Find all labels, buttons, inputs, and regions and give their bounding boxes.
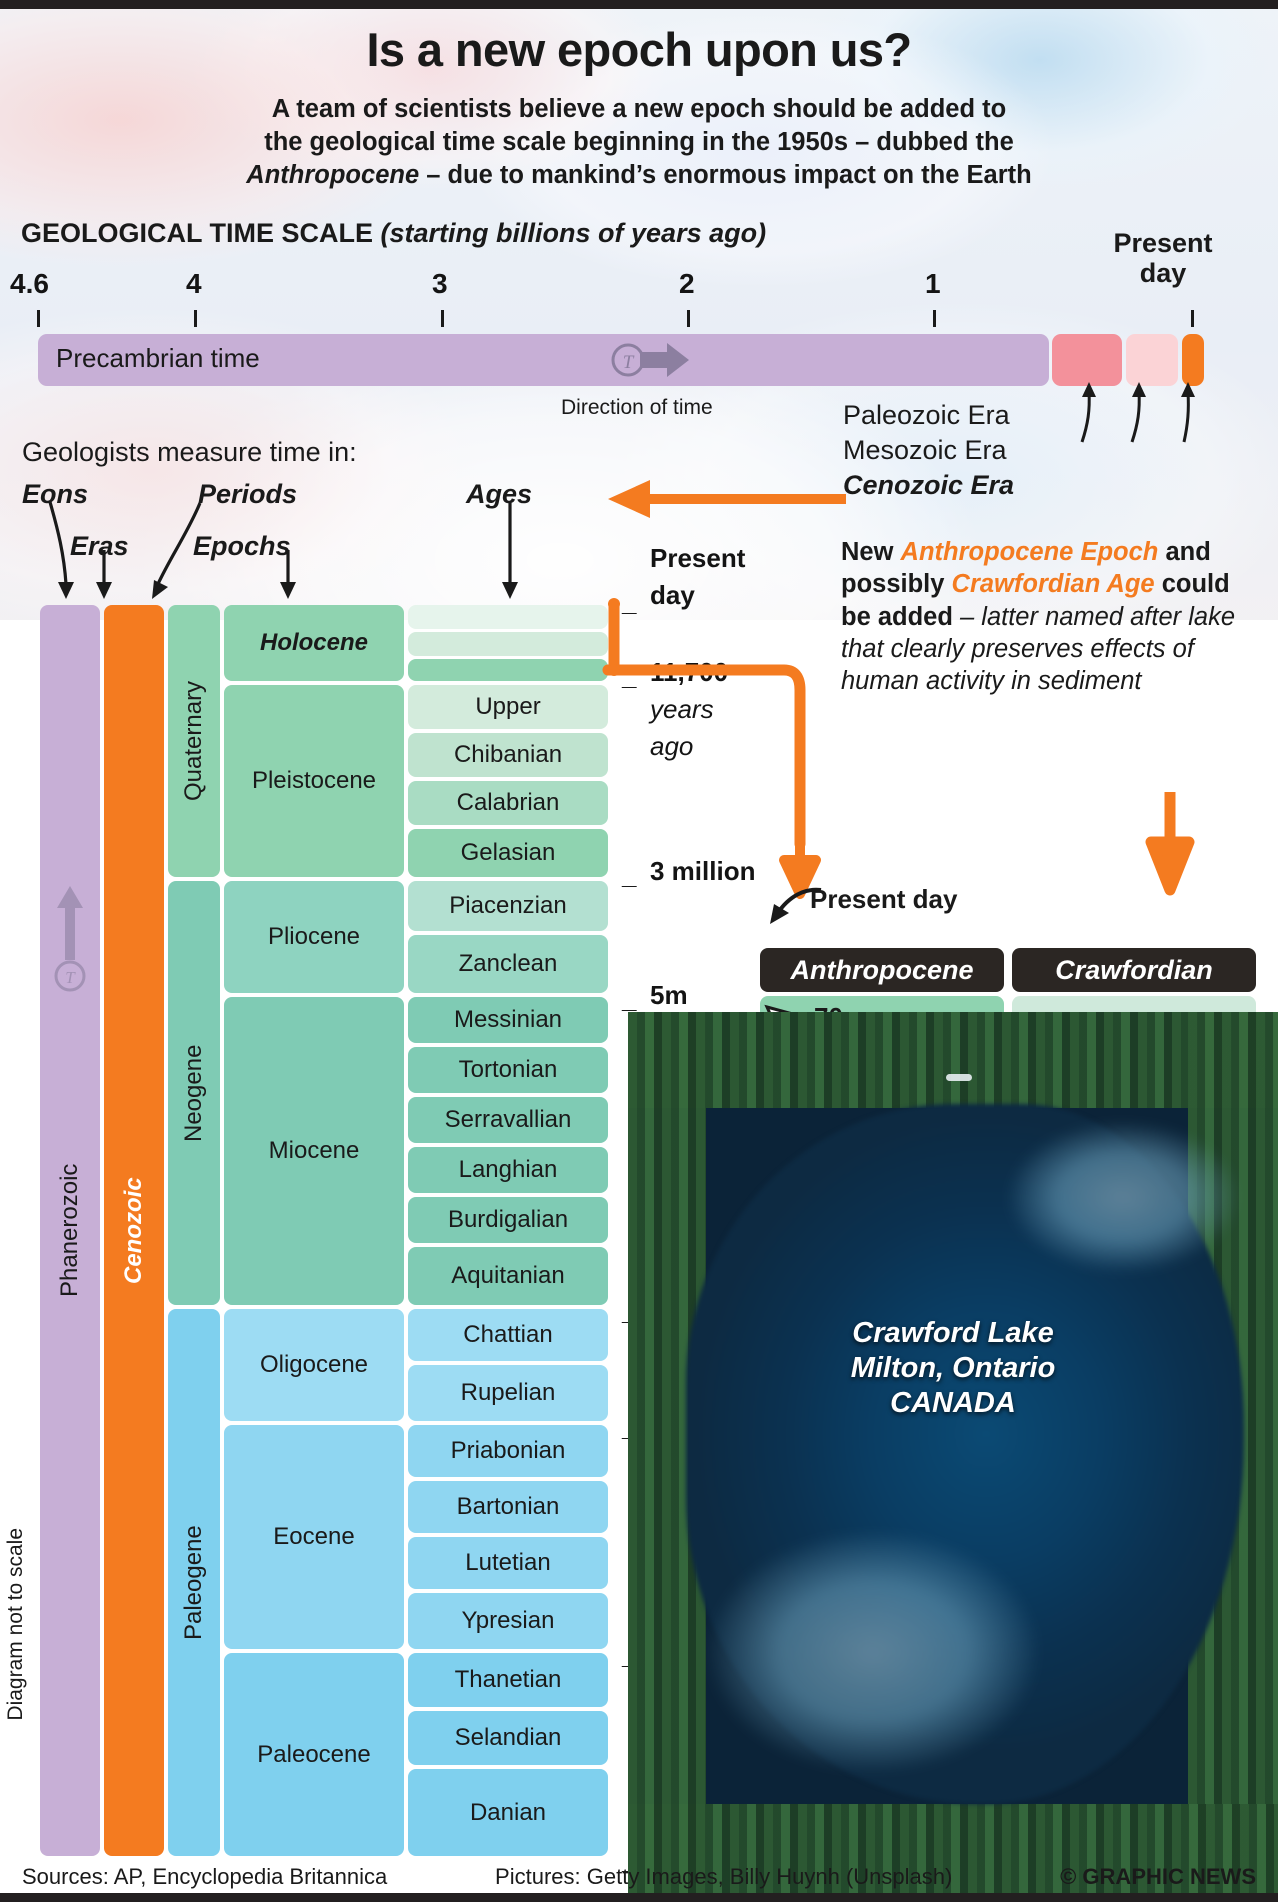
age-selandian: Selandian xyxy=(408,1711,608,1765)
age-tortonian: Tortonian xyxy=(408,1047,608,1093)
age-chibanian: Chibanian xyxy=(408,733,608,777)
axis-tick-label-2: 2 xyxy=(679,268,695,300)
measure-pointer-arrows xyxy=(0,500,620,608)
holocene-bracket-connector xyxy=(604,594,824,864)
top-rule xyxy=(0,0,1278,9)
gts-caps: GEOLOGICAL TIME SCALE xyxy=(21,218,381,248)
scale-dash-5m: _ xyxy=(622,984,636,1015)
footer-sources: Sources: AP, Encyclopedia Britannica xyxy=(22,1864,387,1890)
photo-caption: Crawford Lake Milton, Ontario CANADA xyxy=(628,1316,1278,1420)
present-day-line-1: Present xyxy=(1098,228,1228,258)
age-gelasian: Gelasian xyxy=(408,829,608,877)
age-piacenzian: Piacenzian xyxy=(408,881,608,931)
measure-intro: Geologists measure time in: xyxy=(22,437,357,468)
age-burdigalian: Burdigalian xyxy=(408,1197,608,1243)
age-holocene-2 xyxy=(408,632,608,656)
svg-text:T: T xyxy=(623,352,635,373)
crawfordian-down-arrow xyxy=(1148,790,1194,898)
age-danian: Danian xyxy=(408,1769,608,1856)
precambrian-label: Precambrian time xyxy=(56,343,260,374)
mesozoic-era-block xyxy=(1126,334,1178,386)
epoch-paleocene: Paleocene xyxy=(224,1653,404,1856)
age-thanetian: Thanetian xyxy=(408,1653,608,1707)
era-legend: Paleozoic Era Mesozoic Era Cenozoic Era xyxy=(843,398,1014,503)
epoch-holocene: Holocene xyxy=(224,605,404,681)
era-label-mesozoic: Mesozoic Era xyxy=(843,433,1014,468)
eon-time-direction-icon: T xyxy=(52,880,88,990)
period-paleogene: Paleogene xyxy=(168,1309,220,1856)
epoch-oligocene: Oligocene xyxy=(224,1309,404,1421)
subhead-line-1: A team of scientists believe a new epoch… xyxy=(0,93,1278,126)
axis-tick-label-4.6: 4.6 xyxy=(10,268,49,300)
age-messinian: Messinian xyxy=(408,997,608,1043)
subhead-line-3: Anthropocene – due to mankind’s enormous… xyxy=(0,159,1278,192)
era-label-paleozoic: Paleozoic Era xyxy=(843,398,1014,433)
axis-tick-1 xyxy=(933,310,936,327)
epoch-pleistocene: Pleistocene xyxy=(224,685,404,877)
cenozoic-link-arrow xyxy=(600,482,850,516)
era-cenozoic: Cenozoic xyxy=(104,605,164,1856)
precambrian-bar: Precambrian time xyxy=(38,334,1049,386)
anthropocene-emphasis: Anthropocene xyxy=(246,161,419,189)
present-day-label-2: Present day xyxy=(810,884,957,915)
photo-caption-line-1: Crawford Lake xyxy=(628,1316,1278,1351)
photo-caption-line-3: CANADA xyxy=(628,1386,1278,1421)
headline: Is a new epoch upon us? xyxy=(0,22,1278,77)
crawfordian-header: Crawfordian xyxy=(1012,948,1256,992)
age-holocene-3 xyxy=(408,659,608,681)
age-langhian: Langhian xyxy=(408,1147,608,1193)
footer-credit: © GRAPHIC NEWS xyxy=(1060,1864,1256,1890)
cenozoic-era-block xyxy=(1182,334,1204,386)
photo-boat xyxy=(946,1074,972,1081)
axis-tick-4.6 xyxy=(37,310,40,327)
axis-tick-label-1: 1 xyxy=(925,268,941,300)
axis-tick-3 xyxy=(441,310,444,327)
infographic-root: Is a new epoch upon us? A team of scient… xyxy=(0,0,1278,1902)
scale-5m: 5m xyxy=(650,980,688,1011)
axis-tick-2 xyxy=(687,310,690,327)
subhead-line-3-tail: – due to mankind’s enormous impact on th… xyxy=(419,161,1032,189)
axis-tick-present xyxy=(1191,310,1194,327)
age-holocene-1 xyxy=(408,605,608,629)
scale-present-line1: Present xyxy=(650,543,745,574)
photo-shoreline-glow-2 xyxy=(1008,1122,1238,1272)
bottom-rule xyxy=(0,1893,1278,1902)
eon-phanerozoic: Phanerozoic xyxy=(40,605,100,1856)
crawford-lake-photo: Crawford Lake Milton, Ontario CANADA xyxy=(628,1012,1278,1893)
age-rupelian: Rupelian xyxy=(408,1365,608,1421)
axis-tick-4 xyxy=(194,310,197,327)
scale-dash-3m: _ xyxy=(622,860,636,891)
subheadline: A team of scientists believe a new epoch… xyxy=(0,93,1278,192)
age-bartonian: Bartonian xyxy=(408,1481,608,1533)
period-quaternary: Quaternary xyxy=(168,605,220,877)
present-day-line-2: day xyxy=(1098,258,1228,288)
age-calabrian: Calabrian xyxy=(408,781,608,825)
period-neogene: Neogene xyxy=(168,881,220,1305)
epoch-miocene: Miocene xyxy=(224,997,404,1305)
age-ypresian: Ypresian xyxy=(408,1593,608,1649)
axis-tick-label-4: 4 xyxy=(186,268,202,300)
photo-caption-line-2: Milton, Ontario xyxy=(628,1351,1278,1386)
age-lutetian: Lutetian xyxy=(408,1537,608,1589)
age-serravallian: Serravallian xyxy=(408,1097,608,1143)
axis-tick-label-3: 3 xyxy=(432,268,448,300)
age-aquitanian: Aquitanian xyxy=(408,1247,608,1305)
age-zanclean: Zanclean xyxy=(408,935,608,993)
age-upper: Upper xyxy=(408,685,608,729)
footer-pictures: Pictures: Getty Images, Billy Huynh (Uns… xyxy=(495,1864,952,1890)
axis-present-day-label: Present day xyxy=(1098,228,1228,288)
photo-tree-band-top xyxy=(628,1012,1278,1108)
anthropocene-header: Anthropocene xyxy=(760,948,1004,992)
svg-text:T: T xyxy=(65,968,76,987)
callout-crawfordian-age: Crawfordian Age xyxy=(952,570,1155,598)
footer: Sources: AP, Encyclopedia Britannica Pic… xyxy=(0,1864,1278,1890)
age-chattian: Chattian xyxy=(408,1309,608,1361)
epoch-pliocene: Pliocene xyxy=(224,881,404,993)
callout-w1: New xyxy=(841,538,901,566)
era-label-cenozoic: Cenozoic Era xyxy=(843,468,1014,503)
direction-of-time-icon: T xyxy=(610,339,700,381)
callout-anthropocene-epoch: Anthropocene Epoch xyxy=(901,538,1159,566)
subhead-line-2: the geological time scale beginning in t… xyxy=(0,126,1278,159)
geological-time-scale-header: GEOLOGICAL TIME SCALE (starting billions… xyxy=(21,218,766,249)
age-priabonian: Priabonian xyxy=(408,1425,608,1477)
paleozoic-era-block xyxy=(1052,334,1122,386)
epoch-eocene: Eocene xyxy=(224,1425,404,1649)
direction-of-time-label: Direction of time xyxy=(561,396,713,420)
gts-italic: (starting billions of years ago) xyxy=(381,218,767,248)
photo-shoreline-glow xyxy=(708,1532,1038,1772)
diagram-not-to-scale-note: Diagram not to scale xyxy=(4,1528,28,1721)
anthropocene-callout: New Anthropocene Epoch and possibly Craw… xyxy=(841,536,1241,697)
era-pointer-arrows xyxy=(1010,380,1230,450)
